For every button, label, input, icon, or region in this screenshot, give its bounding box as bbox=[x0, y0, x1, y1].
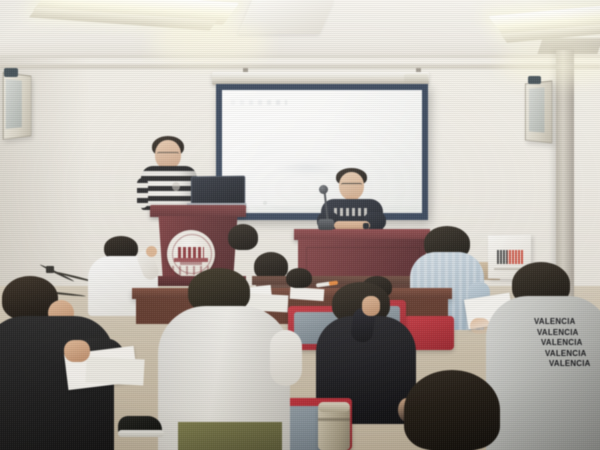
microphone-base bbox=[318, 219, 334, 230]
audience-raised-hand bbox=[146, 246, 157, 257]
wall-speaker-left-grille bbox=[6, 79, 22, 129]
audience-center-arm bbox=[270, 330, 302, 386]
handout-sheet-3 bbox=[290, 287, 325, 301]
presenter-arm bbox=[137, 178, 148, 208]
thermos-ring bbox=[318, 418, 350, 421]
wall-speaker-right-grille bbox=[529, 87, 545, 132]
microphone-head-icon bbox=[319, 185, 328, 194]
thermos-lid bbox=[318, 402, 350, 412]
valencia-line-2: VALENCIA bbox=[537, 327, 600, 338]
audience-black-shirt-hand bbox=[362, 296, 380, 316]
valencia-line-5: VALENCIA bbox=[549, 358, 600, 369]
wall-speaker-right-bracket bbox=[528, 76, 541, 84]
audience-center-shorts bbox=[178, 422, 282, 450]
seated-speaker-glasses-icon bbox=[341, 183, 362, 189]
audience-head-back-1 bbox=[228, 224, 258, 250]
projector-screen-end-cap bbox=[404, 74, 428, 83]
presenter-shirt-motif bbox=[172, 182, 180, 191]
valencia-line-1: VALENCIA bbox=[534, 316, 600, 327]
audience-head-mid-1 bbox=[286, 268, 312, 288]
valencia-line-4: VALENCIA bbox=[545, 348, 600, 359]
emblem-gate-motif bbox=[178, 247, 204, 258]
shoe-sole bbox=[118, 430, 164, 437]
box-logo-icon bbox=[497, 250, 523, 264]
valencia-shirt-print: VALENCIA VALENCIA VALENCIA VALENCIA VALE… bbox=[534, 316, 600, 369]
light-glow-left bbox=[150, 22, 270, 64]
wall-speaker-left-bracket bbox=[4, 68, 18, 77]
podium-top bbox=[150, 205, 246, 217]
emblem-text-mark bbox=[180, 262, 202, 265]
presenter-glasses-icon bbox=[157, 152, 179, 158]
projector-screen-glare bbox=[222, 90, 422, 213]
lecture-hall-photo: VALENCIA VALENCIA VALENCIA VALENCIA VALE… bbox=[0, 0, 600, 450]
valencia-line-3: VALENCIA bbox=[541, 337, 600, 348]
support-column bbox=[556, 50, 574, 300]
audience-dark-shirt-hand bbox=[64, 340, 90, 362]
audience-foreground-right-head bbox=[404, 370, 500, 450]
handout-held-left-2 bbox=[85, 357, 144, 386]
